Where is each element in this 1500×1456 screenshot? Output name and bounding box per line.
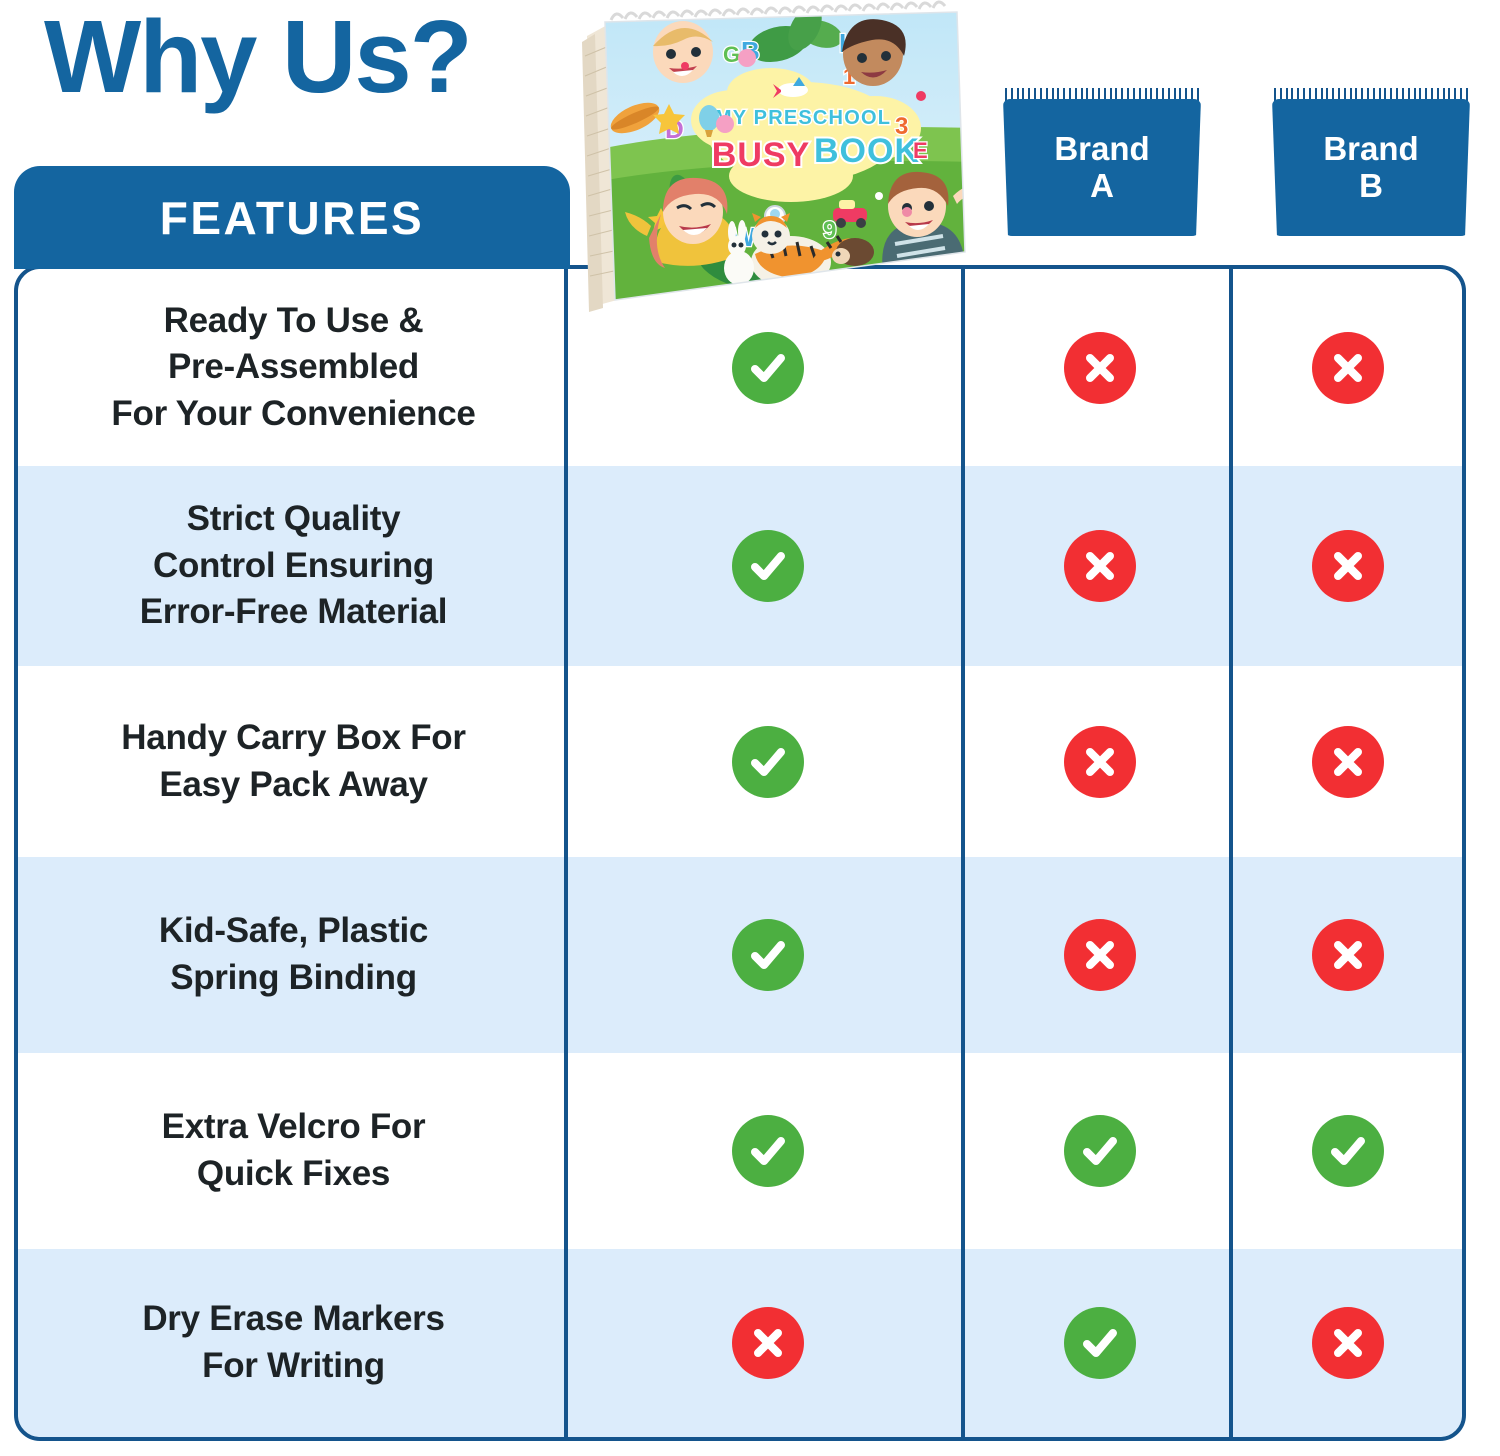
brand-a-header-card: Brand A (1003, 86, 1201, 236)
feature-label-cell: Dry Erase MarkersFor Writing (18, 1249, 569, 1437)
brand-b-cell (1234, 269, 1462, 466)
brand-b-cell (1234, 1249, 1462, 1437)
brand-a-header-body: Brand A (1003, 99, 1201, 236)
brand-b-label-line2: B (1359, 168, 1383, 205)
feature-label: Extra Velcro ForQuick Fixes (162, 1104, 426, 1197)
brand-a-label-line1: Brand (1054, 131, 1149, 168)
page-title: Why Us? (44, 0, 471, 116)
divider-brand-a-column (961, 269, 965, 1441)
table-row: Handy Carry Box ForEasy Pack Away (18, 666, 1462, 857)
feature-label: Dry Erase MarkersFor Writing (142, 1296, 444, 1389)
cross-icon (1312, 332, 1384, 404)
cross-icon (1312, 1307, 1384, 1379)
check-icon (732, 332, 804, 404)
check-icon (732, 1115, 804, 1187)
our-product-cell (569, 666, 966, 857)
table-row: Extra Velcro ForQuick Fixes (18, 1053, 1462, 1249)
brand-a-cell (966, 1249, 1234, 1437)
divider-brand-b-column (1229, 269, 1233, 1441)
svg-text:R: R (859, 266, 875, 291)
our-product-cell (569, 466, 966, 666)
cross-icon (1064, 332, 1136, 404)
check-icon (1312, 1115, 1384, 1187)
brand-b-cell (1234, 1053, 1462, 1249)
svg-text:E: E (913, 138, 928, 163)
table-row: Dry Erase MarkersFor Writing (18, 1249, 1462, 1437)
feature-label-cell: Ready To Use &Pre-AssembledFor Your Conv… (18, 269, 569, 466)
check-icon (732, 726, 804, 798)
features-column-header: FEATURES (14, 166, 570, 269)
feature-label-cell: Strict QualityControl EnsuringError-Free… (18, 466, 569, 666)
table-row: Kid-Safe, PlasticSpring Binding (18, 857, 1462, 1053)
feature-label: Handy Carry Box ForEasy Pack Away (121, 715, 465, 808)
comparison-table: Ready To Use &Pre-AssembledFor Your Conv… (14, 265, 1466, 1441)
svg-text:BUSY: BUSY (712, 136, 810, 174)
brand-a-cell (966, 857, 1234, 1053)
table-row: Strict QualityControl EnsuringError-Free… (18, 466, 1462, 666)
check-icon (1064, 1307, 1136, 1379)
feature-label-cell: Extra Velcro ForQuick Fixes (18, 1053, 569, 1249)
brand-a-cell (966, 269, 1234, 466)
brand-a-cell (966, 466, 1234, 666)
svg-text:3: 3 (895, 113, 908, 140)
brand-b-cell (1234, 466, 1462, 666)
cross-icon (1312, 726, 1384, 798)
feature-label-cell: Kid-Safe, PlasticSpring Binding (18, 857, 569, 1053)
brand-b-header-body: Brand B (1272, 99, 1470, 236)
features-header-label: FEATURES (160, 191, 425, 245)
brand-b-header-card: Brand B (1272, 86, 1470, 236)
brand-a-label-line2: A (1090, 168, 1114, 205)
cross-icon (1064, 530, 1136, 602)
brand-a-cell (966, 1053, 1234, 1249)
product-busy-book-image: MY PRESCHOOL BUSY BOOK G B K D 1 3 4 W 9… (565, 0, 977, 330)
our-product-cell (569, 1053, 966, 1249)
feature-label: Kid-Safe, PlasticSpring Binding (159, 908, 428, 1001)
brand-b-cell (1234, 666, 1462, 857)
check-icon (732, 919, 804, 991)
check-icon (1064, 1115, 1136, 1187)
feature-label: Strict QualityControl EnsuringError-Free… (140, 496, 447, 636)
feature-label-cell: Handy Carry Box ForEasy Pack Away (18, 666, 569, 857)
svg-text:9: 9 (823, 217, 836, 244)
table-rows-container: Ready To Use &Pre-AssembledFor Your Conv… (18, 269, 1462, 1437)
svg-text:MY PRESCHOOL: MY PRESCHOOL (715, 107, 891, 129)
cross-icon (1064, 726, 1136, 798)
check-icon (732, 530, 804, 602)
svg-text:G: G (723, 42, 740, 67)
feature-label: Ready To Use &Pre-AssembledFor Your Conv… (111, 298, 475, 438)
cross-icon (1312, 530, 1384, 602)
divider-features-column (564, 269, 568, 1441)
our-product-cell (569, 857, 966, 1053)
brand-a-cell (966, 666, 1234, 857)
our-product-cell (569, 1249, 966, 1437)
cross-icon (1312, 919, 1384, 991)
brand-b-cell (1234, 857, 1462, 1053)
cross-icon (1064, 919, 1136, 991)
cross-icon (732, 1307, 804, 1379)
brand-b-label-line1: Brand (1323, 131, 1418, 168)
